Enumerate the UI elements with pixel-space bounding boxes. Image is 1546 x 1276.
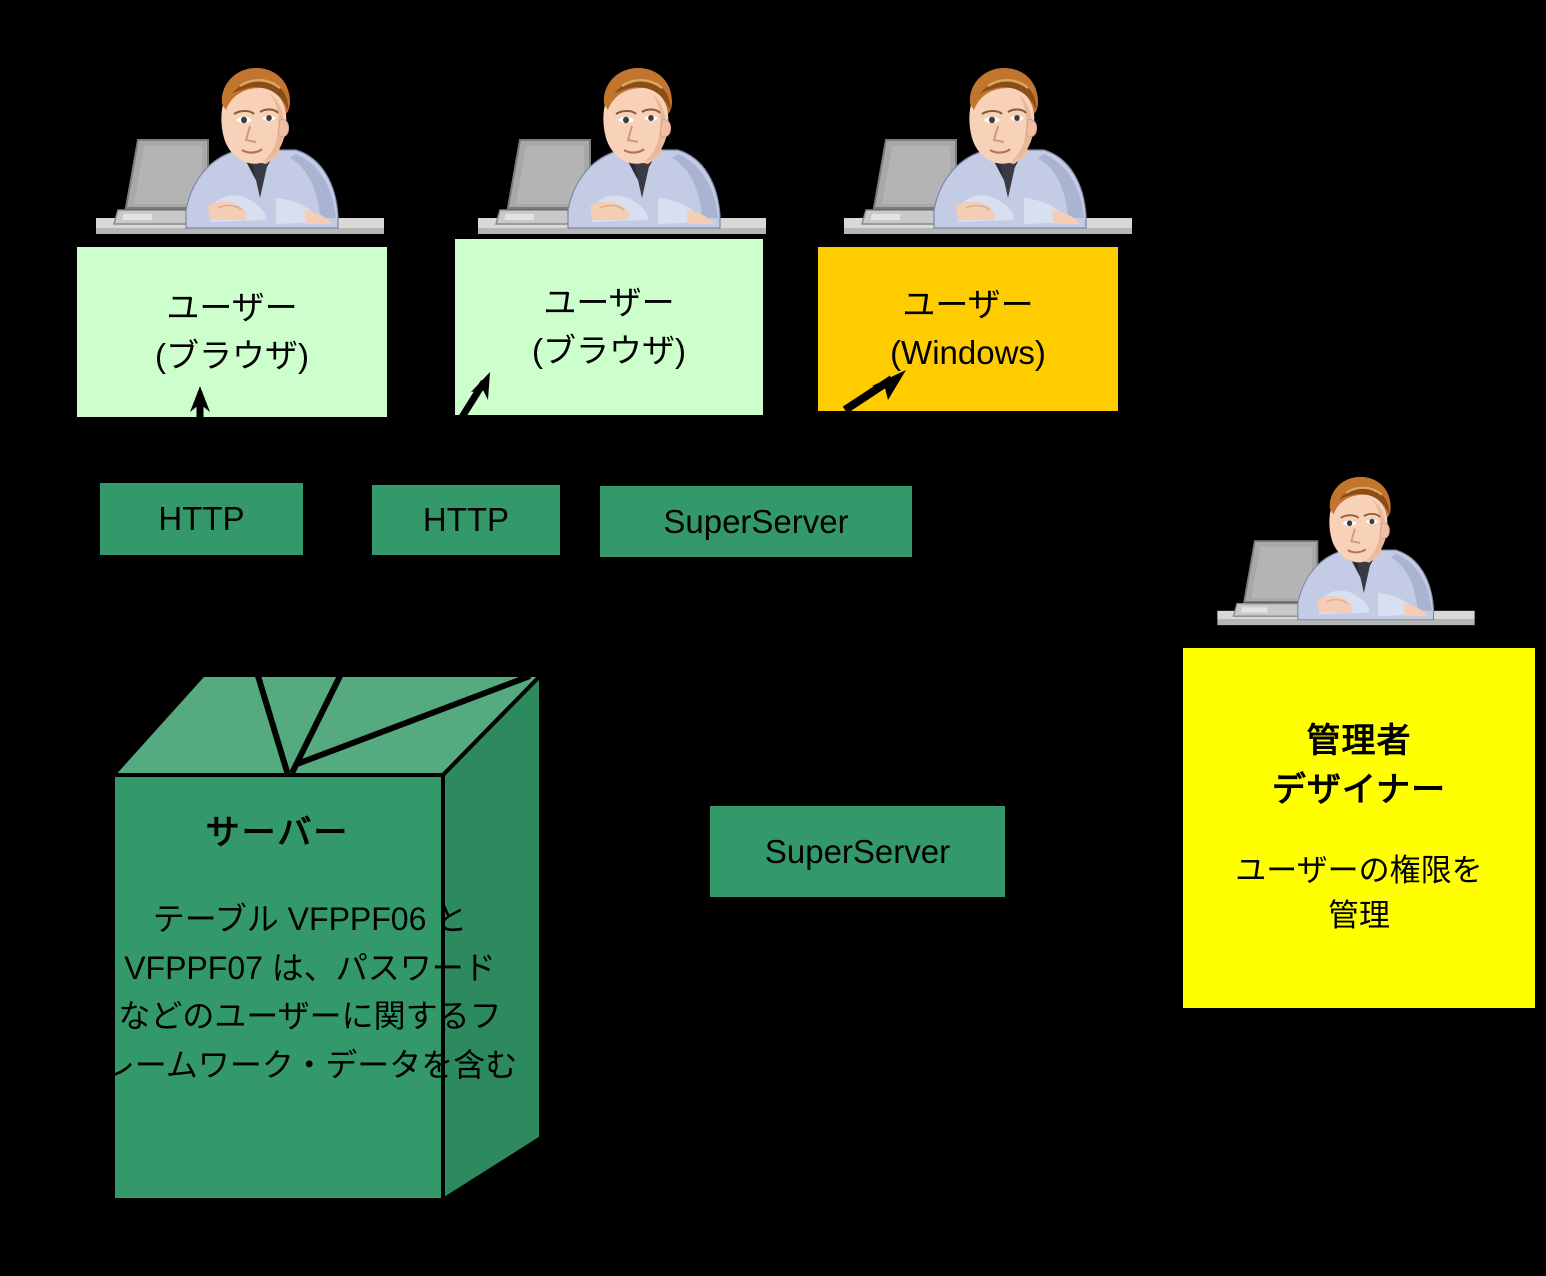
admin-body-line-1: ユーザーの権限を bbox=[1235, 849, 1482, 894]
user-box-browser-2[interactable]: ユーザー (ブラウザ) bbox=[455, 239, 763, 415]
user-box-label-line-1: ユーザー bbox=[902, 281, 1033, 329]
protocol-chip-label: HTTP bbox=[158, 495, 244, 543]
user-box-browser-1[interactable]: ユーザー (ブラウザ) bbox=[77, 247, 387, 417]
user-box-windows[interactable]: ユーザー (Windows) bbox=[818, 247, 1118, 411]
protocol-chip-http-2[interactable]: HTTP bbox=[372, 485, 560, 555]
clipart-user-at-laptop-3 bbox=[838, 58, 1138, 253]
user-box-label-line-2: (Windows) bbox=[890, 329, 1046, 377]
protocol-chip-label: HTTP bbox=[423, 496, 509, 544]
server-desc-line-4: レームワーク・データを含む bbox=[100, 1041, 520, 1090]
admin-heading-line-1: 管理者 bbox=[1307, 717, 1412, 766]
protocol-chip-label: SuperServer bbox=[663, 498, 848, 546]
server-cube-title: サーバー bbox=[115, 805, 440, 854]
server-desc-line-3: などのユーザーに関するフ bbox=[100, 992, 520, 1041]
server-cube-description: テーブル VFPPF06 と VFPPF07 は、パスワード などのユーザーに関… bbox=[100, 895, 520, 1090]
admin-heading-line-2: デザイナー bbox=[1272, 766, 1446, 815]
user-box-label-line-2: (ブラウザ) bbox=[155, 332, 309, 380]
admin-designer-box[interactable]: 管理者 デザイナー ユーザーの権限を 管理 bbox=[1183, 648, 1535, 1008]
clipart-user-at-laptop-1 bbox=[90, 58, 390, 253]
user-box-label-line-1: ユーザー bbox=[166, 284, 297, 332]
diagram-canvas: ユーザー (ブラウザ) ユーザー (ブラウザ) ユーザー (Windows) H… bbox=[0, 0, 1546, 1276]
protocol-chip-label: SuperServer bbox=[765, 828, 950, 876]
user-box-label-line-2: (ブラウザ) bbox=[532, 327, 686, 375]
clipart-admin-at-laptop bbox=[1212, 462, 1480, 648]
clipart-user-at-laptop-2 bbox=[472, 58, 772, 253]
protocol-chip-http-1[interactable]: HTTP bbox=[100, 483, 303, 555]
protocol-chip-superserver-top[interactable]: SuperServer bbox=[600, 486, 912, 557]
server-desc-line-2: VFPPF07 は、パスワード bbox=[100, 944, 520, 993]
user-box-label-line-1: ユーザー bbox=[543, 279, 674, 327]
protocol-chip-superserver-bottom[interactable]: SuperServer bbox=[710, 806, 1005, 897]
server-desc-line-1: テーブル VFPPF06 と bbox=[100, 895, 520, 944]
admin-body-line-2: 管理 bbox=[1328, 894, 1390, 939]
